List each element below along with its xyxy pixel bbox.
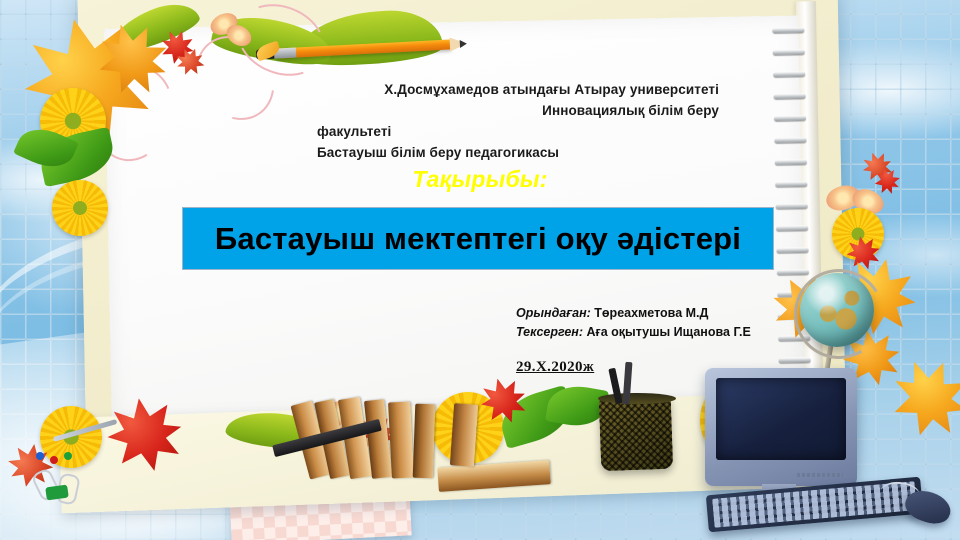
checked-by-row: Тексерген: Аға оқытушы Ищанова Г.Е bbox=[516, 323, 751, 342]
institution-header: Х.Досмұхамедов атындағы Атырау университ… bbox=[317, 80, 719, 164]
title-banner: Бастауыш мектептегі оқу әдістері bbox=[182, 207, 774, 270]
computer-monitor bbox=[705, 368, 857, 486]
monitor-screen bbox=[716, 378, 846, 460]
presentation-date: 29.X.2020ж bbox=[516, 359, 594, 376]
header-line-department: Бастауыш білім беру педагогикасы bbox=[317, 143, 719, 164]
pen-cup-rim bbox=[598, 393, 676, 404]
prepared-by-row: Орындаған: Төреахметова М.Д bbox=[516, 304, 751, 323]
prepared-by-label: Орындаған: bbox=[516, 306, 591, 320]
header-line-university: Х.Досмұхамедов атындағы Атырау университ… bbox=[317, 80, 719, 101]
presentation-title-slide: Х.Досмұхамедов атындағы Атырау университ… bbox=[0, 0, 960, 540]
header-line-faculty-part2: факультеті bbox=[317, 122, 719, 143]
subject-label: Тақырыбы: bbox=[0, 166, 960, 193]
checked-by-name: Аға оқытушы Ищанова Г.Е bbox=[587, 325, 751, 339]
monitor-brand-label bbox=[797, 473, 843, 477]
book-6 bbox=[413, 404, 436, 479]
daisy-desk-left bbox=[40, 406, 102, 468]
pen-cup bbox=[599, 397, 673, 471]
book-8-vertical bbox=[450, 403, 478, 467]
globe-icon bbox=[800, 273, 874, 347]
page-title: Бастауыш мектептегі оқу әдістері bbox=[215, 221, 741, 257]
book-5 bbox=[388, 401, 414, 478]
checked-by-label: Тексерген: bbox=[516, 325, 583, 339]
credits-block: Орындаған: Төреахметова М.Д Тексерген: А… bbox=[516, 304, 751, 341]
header-line-faculty-part1: Инновациялық білім беру bbox=[317, 101, 719, 122]
prepared-by-name: Төреахметова М.Д bbox=[594, 306, 708, 320]
